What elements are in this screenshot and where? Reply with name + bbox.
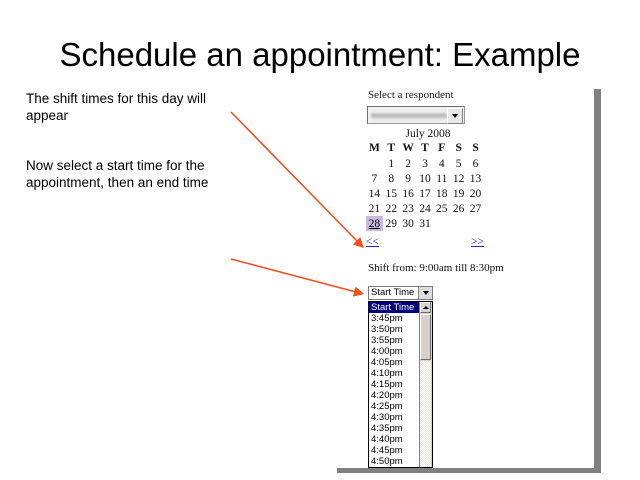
- panel-shadow-right: [594, 89, 601, 473]
- calendar-next-link[interactable]: >>: [471, 236, 484, 248]
- calendar-day[interactable]: 6: [467, 156, 484, 171]
- chevron-down-icon[interactable]: [447, 108, 463, 124]
- calendar-weekday: S: [450, 142, 467, 156]
- respondent-select[interactable]: [367, 106, 465, 124]
- calendar-day[interactable]: 31: [417, 216, 434, 231]
- start-time-select[interactable]: Start Time: [368, 286, 433, 300]
- calendar-grid: M T W T F S S 12345678910111213141516171…: [366, 142, 484, 231]
- calendar-weekday: W: [400, 142, 417, 156]
- calendar-weekday: M: [366, 142, 383, 156]
- scrollbar-thumb[interactable]: [420, 314, 431, 360]
- scrollbar-track[interactable]: [420, 361, 431, 467]
- calendar-day[interactable]: 9: [400, 171, 417, 186]
- calendar-day[interactable]: 12: [450, 171, 467, 186]
- calendar-weekday: F: [433, 142, 450, 156]
- page-title: Schedule an appointment: Example: [0, 36, 640, 74]
- calendar-header-row: M T W T F S S: [366, 142, 484, 156]
- calendar-day[interactable]: 29: [383, 216, 400, 231]
- calendar-day[interactable]: 21: [366, 201, 383, 216]
- start-time-option-list[interactable]: Start Time3:45pm3:50pm3:55pm4:00pm4:05pm…: [368, 301, 433, 468]
- option-list-scrollbar[interactable]: [419, 302, 432, 467]
- calendar-day[interactable]: 22: [383, 201, 400, 216]
- calendar-day[interactable]: 20: [467, 186, 484, 201]
- calendar: July 2008 M T W T F S S 1234567891011121…: [366, 128, 484, 231]
- calendar-day[interactable]: 7: [366, 171, 383, 186]
- calendar-day[interactable]: 4: [433, 156, 450, 171]
- calendar-prev-link[interactable]: <<: [366, 236, 379, 248]
- calendar-day[interactable]: 1: [383, 156, 400, 171]
- calendar-nav: << >>: [366, 236, 484, 248]
- calendar-day[interactable]: 13: [467, 171, 484, 186]
- appointment-form-panel: Select a respondent July 2008 M T W T F …: [332, 84, 594, 468]
- calendar-day[interactable]: 15: [383, 186, 400, 201]
- shift-hours-text: Shift from: 9:00am till 8:30pm: [368, 262, 504, 274]
- calendar-week-row: 14151617181920: [366, 186, 484, 201]
- calendar-day-empty: [433, 216, 450, 231]
- calendar-day-empty: [366, 156, 383, 171]
- calendar-weekday: T: [383, 142, 400, 156]
- calendar-day[interactable]: 14: [366, 186, 383, 201]
- calendar-day[interactable]: 19: [450, 186, 467, 201]
- calendar-weekday: S: [467, 142, 484, 156]
- calendar-day-empty: [450, 216, 467, 231]
- calendar-day[interactable]: 8: [383, 171, 400, 186]
- calendar-day-empty: [467, 216, 484, 231]
- calendar-day[interactable]: 23: [400, 201, 417, 216]
- calendar-day[interactable]: 10: [417, 171, 434, 186]
- respondent-value-redacted: [371, 111, 447, 120]
- triangle-up-icon[interactable]: [420, 302, 431, 313]
- calendar-week-row: 21222324252627: [366, 201, 484, 216]
- start-time-selected-value: Start Time: [369, 287, 414, 299]
- calendar-day[interactable]: 3: [417, 156, 434, 171]
- calendar-body: 1234567891011121314151617181920212223242…: [366, 156, 484, 231]
- calendar-day[interactable]: 16: [400, 186, 417, 201]
- calendar-day[interactable]: 17: [417, 186, 434, 201]
- callout-shift-times: The shift times for this day will appear: [26, 90, 246, 124]
- calendar-day[interactable]: 30: [400, 216, 417, 231]
- calendar-week-row: 78910111213: [366, 171, 484, 186]
- calendar-day[interactable]: 11: [433, 171, 450, 186]
- calendar-week-row: 28293031: [366, 216, 484, 231]
- calendar-day[interactable]: 5: [450, 156, 467, 171]
- calendar-day[interactable]: 24: [417, 201, 434, 216]
- calendar-day[interactable]: 26: [450, 201, 467, 216]
- callout-select-start-time: Now select a start time for the appointm…: [26, 157, 251, 191]
- calendar-day[interactable]: 25: [433, 201, 450, 216]
- respondent-label: Select a respondent: [368, 89, 454, 101]
- calendar-day[interactable]: 28: [366, 216, 383, 231]
- calendar-month-label: July 2008: [366, 128, 484, 140]
- chevron-down-icon[interactable]: [418, 287, 432, 299]
- calendar-weekday: T: [417, 142, 434, 156]
- calendar-week-row: 123456: [366, 156, 484, 171]
- calendar-day[interactable]: 2: [400, 156, 417, 171]
- calendar-day[interactable]: 18: [433, 186, 450, 201]
- start-time-option[interactable]: 4:55pm: [369, 467, 432, 468]
- calendar-day[interactable]: 27: [467, 201, 484, 216]
